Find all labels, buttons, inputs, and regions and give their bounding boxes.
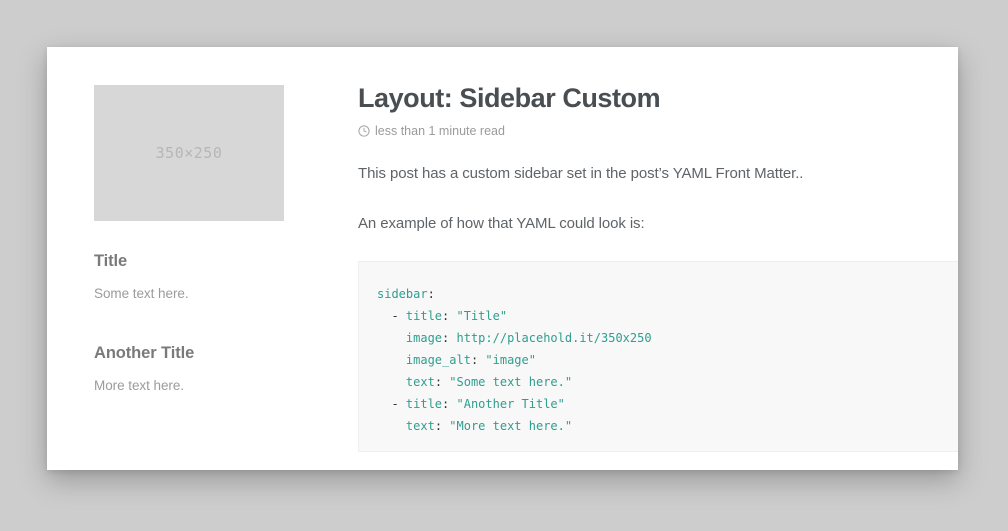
sidebar-block-heading: Title xyxy=(94,252,344,271)
sidebar-block-another-title: Another Title More text here. xyxy=(94,344,344,393)
clock-icon xyxy=(358,125,370,137)
post-paragraph-intro: This post has a custom sidebar set in th… xyxy=(358,163,958,186)
sidebar-block-title: Title Some text here. xyxy=(94,252,344,301)
page-title: Layout: Sidebar Custom xyxy=(358,83,958,114)
sidebar-block-text: More text here. xyxy=(94,378,344,393)
yaml-code-block: sidebar: - title: "Title" image: http://… xyxy=(358,261,958,452)
custom-sidebar: 350×250 Title Some text here. Another Ti… xyxy=(94,85,344,393)
page-card: 350×250 Title Some text here. Another Ti… xyxy=(47,47,958,470)
read-time-label: less than 1 minute read xyxy=(375,124,505,138)
yaml-code: sidebar: - title: "Title" image: http://… xyxy=(377,287,652,433)
sidebar-block-text: Some text here. xyxy=(94,286,344,301)
post-content: Layout: Sidebar Custom less than 1 minut… xyxy=(358,83,958,235)
post-meta: less than 1 minute read xyxy=(358,124,958,138)
post-paragraph-example: An example of how that YAML could look i… xyxy=(358,213,958,236)
sidebar-placeholder-image: 350×250 xyxy=(94,85,284,221)
yaml-code-content: sidebar: - title: "Title" image: http://… xyxy=(359,262,958,437)
sidebar-placeholder-image-label: 350×250 xyxy=(156,144,223,162)
sidebar-block-heading: Another Title xyxy=(94,344,344,363)
